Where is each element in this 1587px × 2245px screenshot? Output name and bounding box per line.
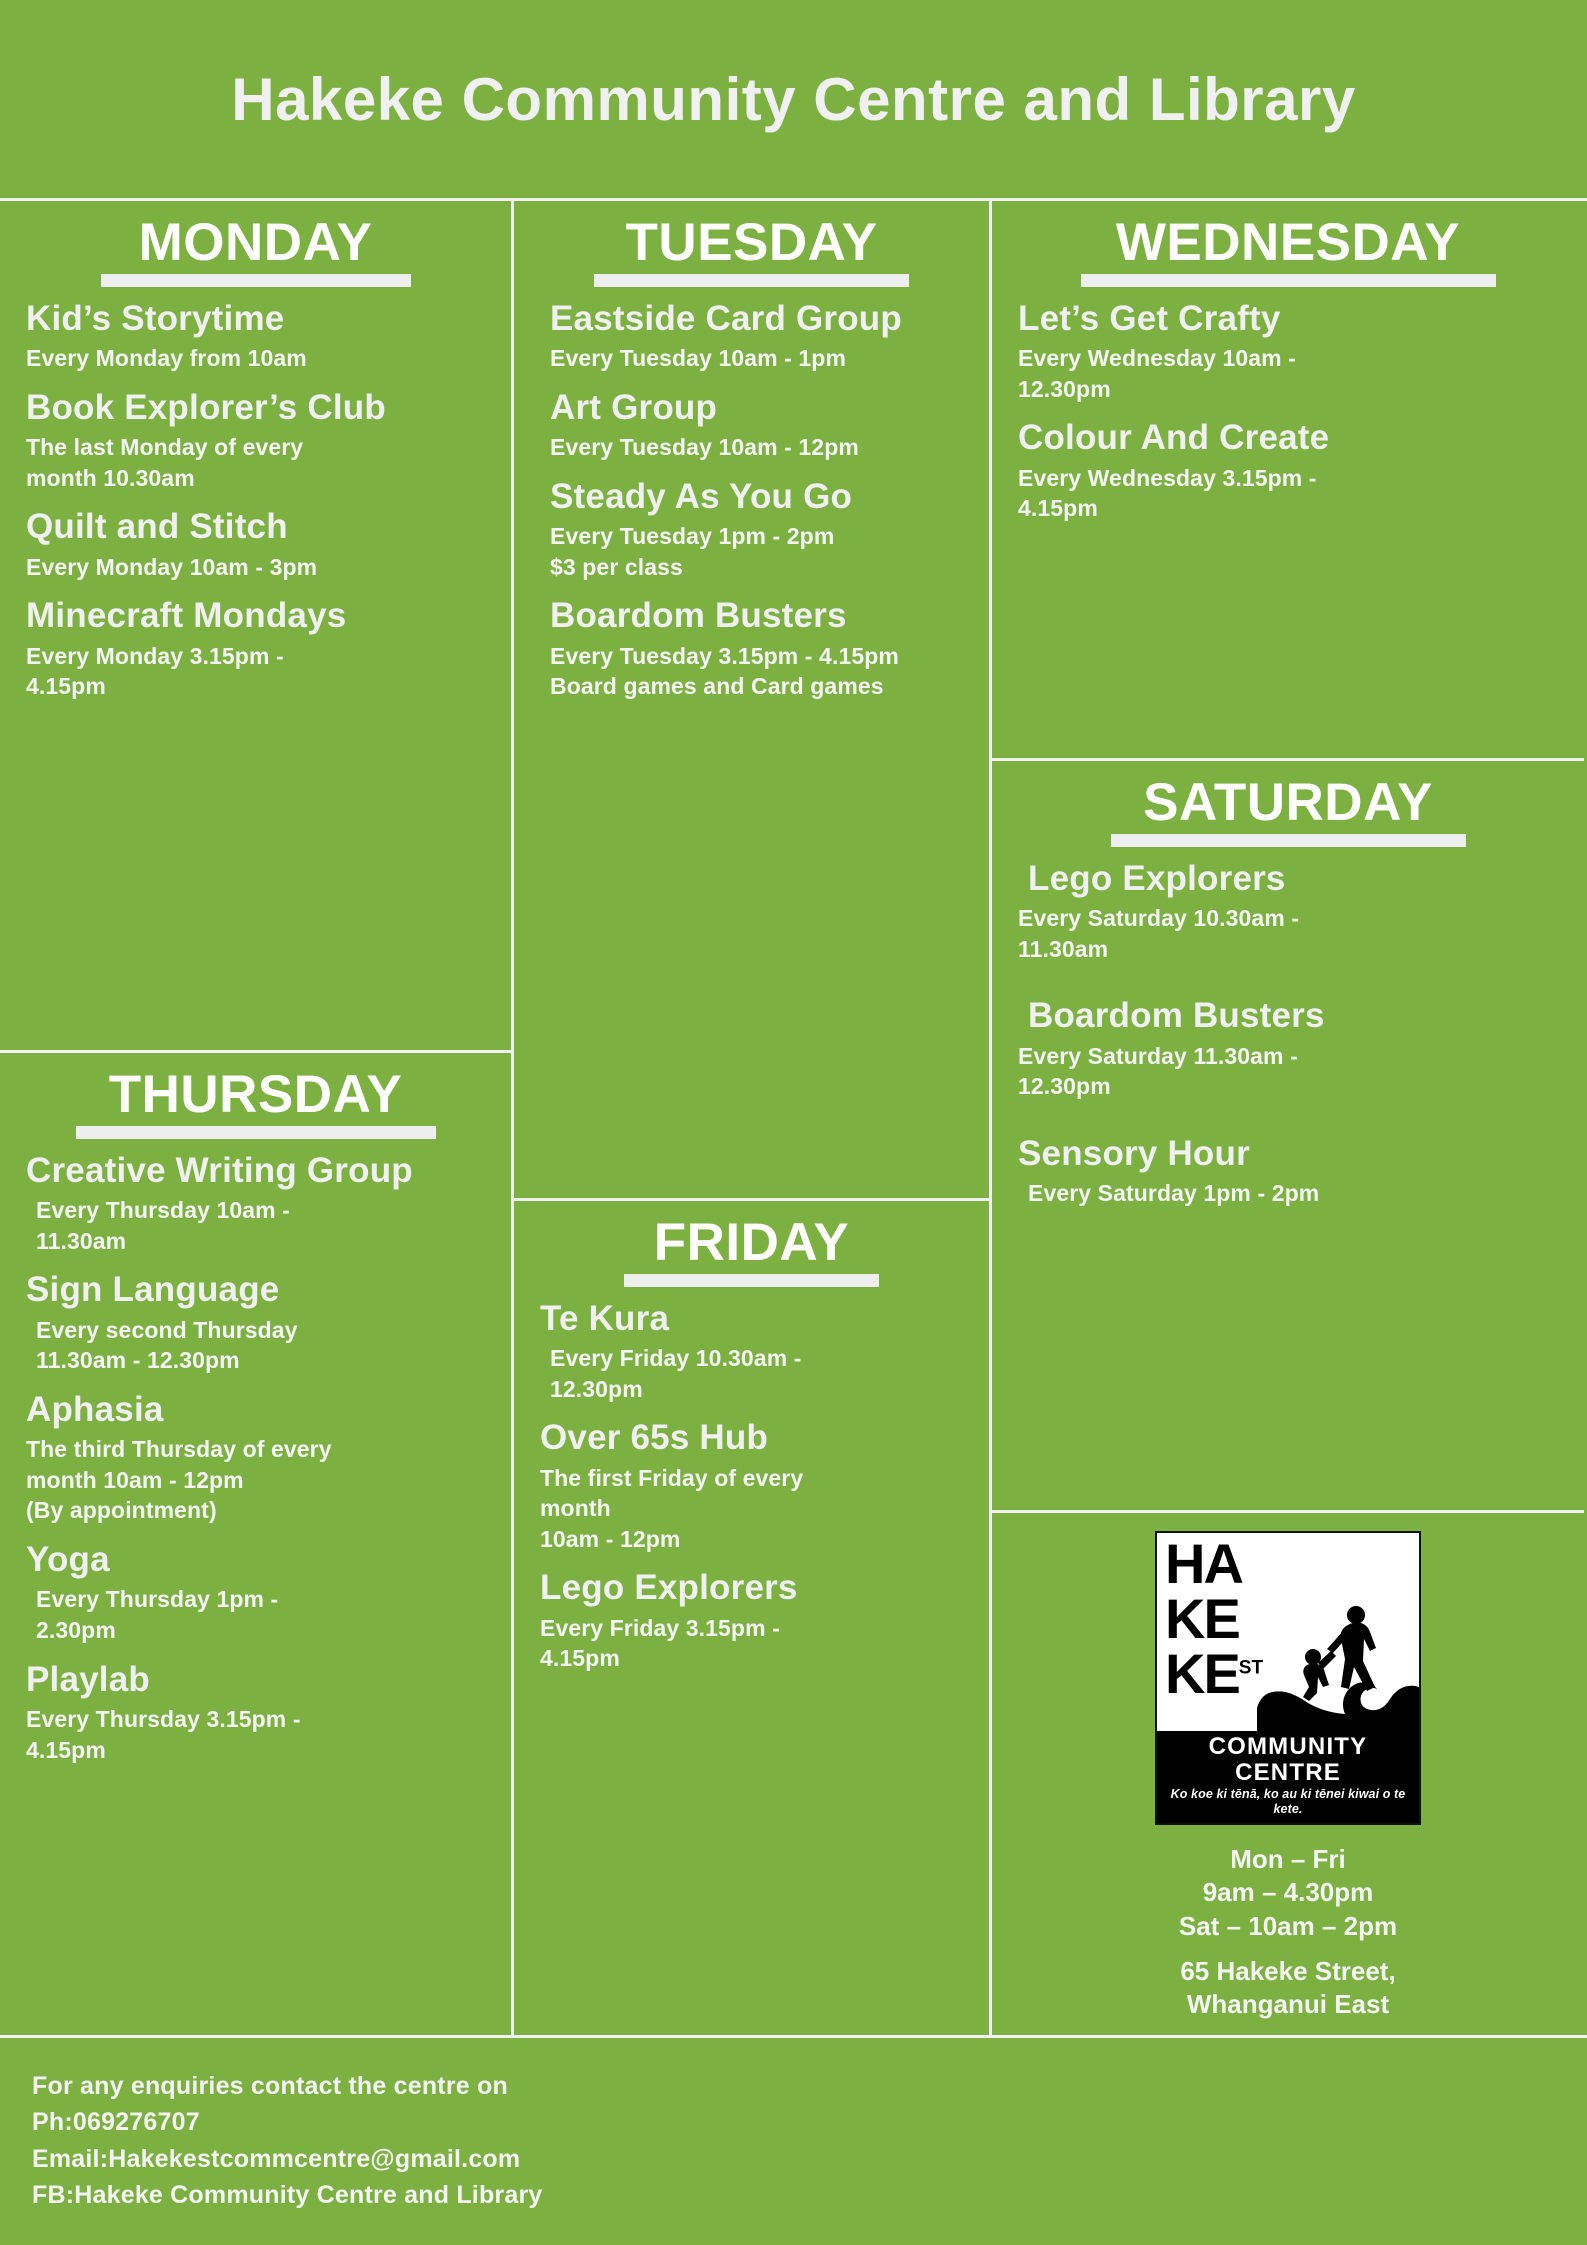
- event-item: Aphasia The third Thursday of every mont…: [26, 1388, 485, 1526]
- day-panel-wednesday: WEDNESDAY Let’s Get Crafty Every Wednesd…: [992, 201, 1584, 761]
- event-name: Boardom Busters: [550, 594, 963, 638]
- day-heading-saturday: SATURDAY: [1018, 775, 1558, 847]
- footer-enquiries: For any enquiries contact the centre on: [32, 2068, 1555, 2104]
- column-left: MONDAY Kid’s Storytime Every Monday from…: [0, 201, 514, 2035]
- event-detail: 10am - 12pm: [540, 1524, 963, 1555]
- event-item: Steady As You Go Every Tuesday 1pm - 2pm…: [540, 475, 963, 583]
- event-name: Art Group: [550, 386, 963, 430]
- poster-header: Hakeke Community Centre and Library: [0, 0, 1587, 198]
- event-item: Boardom Busters Every Saturday 11.30am -…: [1018, 994, 1558, 1102]
- event-detail: Every Tuesday 10am - 12pm: [550, 432, 963, 463]
- day-heading-thursday: THURSDAY: [26, 1067, 485, 1139]
- event-name: Yoga: [26, 1538, 485, 1582]
- column-right: WEDNESDAY Let’s Get Crafty Every Wednesd…: [992, 201, 1584, 2035]
- event-item: Playlab Every Thursday 3.15pm - 4.15pm: [26, 1658, 485, 1766]
- event-name: Kid’s Storytime: [26, 297, 485, 341]
- event-detail: Every Tuesday 3.15pm - 4.15pm: [550, 641, 963, 672]
- address-street: 65 Hakeke Street,: [1180, 1955, 1395, 1988]
- day-heading-friday-label: FRIDAY: [654, 1215, 849, 1271]
- day-panel-tuesday: TUESDAY Eastside Card Group Every Tuesda…: [514, 201, 989, 1201]
- event-name: Sensory Hour: [1018, 1132, 1558, 1176]
- address-suburb: Whanganui East: [1180, 1988, 1395, 2021]
- address-block: 65 Hakeke Street, Whanganui East: [1180, 1955, 1395, 2022]
- event-detail: Every Wednesday 3.15pm -: [1018, 463, 1558, 494]
- heading-underline: [1111, 834, 1466, 847]
- event-item: Eastside Card Group Every Tuesday 10am -…: [540, 297, 963, 374]
- event-detail: 11.30am: [1018, 934, 1558, 965]
- event-detail: month 10.30am: [26, 463, 485, 494]
- day-heading-monday: MONDAY: [26, 215, 485, 287]
- event-item: Let’s Get Crafty Every Wednesday 10am - …: [1018, 297, 1558, 405]
- event-item: Art Group Every Tuesday 10am - 12pm: [540, 386, 963, 463]
- event-detail: Every Tuesday 1pm - 2pm: [550, 521, 963, 552]
- event-detail: Every Tuesday 10am - 1pm: [550, 343, 963, 374]
- logo-motto: Ko koe ki tēnā, ko au ki tēnei kiwai o t…: [1157, 1787, 1419, 1818]
- day-panel-friday: FRIDAY Te Kura Every Friday 10.30am - 12…: [514, 1201, 989, 2035]
- day-heading-friday: FRIDAY: [540, 1215, 963, 1287]
- event-name: Minecraft Mondays: [26, 594, 485, 638]
- event-detail: The first Friday of every: [540, 1463, 963, 1494]
- day-heading-saturday-label: SATURDAY: [1143, 775, 1433, 831]
- day-heading-thursday-label: THURSDAY: [109, 1067, 403, 1123]
- event-detail: (By appointment): [26, 1495, 485, 1526]
- page-title: Hakeke Community Centre and Library: [231, 65, 1355, 134]
- event-name: Colour And Create: [1018, 416, 1558, 460]
- event-name: Over 65s Hub: [540, 1416, 963, 1460]
- event-detail: month 10am - 12pm: [26, 1465, 485, 1496]
- day-heading-tuesday: TUESDAY: [540, 215, 963, 287]
- column-middle: TUESDAY Eastside Card Group Every Tuesda…: [514, 201, 992, 2035]
- event-name: Eastside Card Group: [550, 297, 963, 341]
- event-detail: Board games and Card games: [550, 671, 963, 702]
- heading-underline: [101, 274, 411, 287]
- event-detail: Every Thursday 3.15pm -: [26, 1704, 485, 1735]
- event-item: Over 65s Hub The first Friday of every m…: [540, 1416, 963, 1554]
- event-name: Aphasia: [26, 1388, 485, 1432]
- event-name: Playlab: [26, 1658, 485, 1702]
- footer-phone: Ph:069276707: [32, 2104, 1555, 2140]
- event-detail: 11.30am: [26, 1226, 485, 1257]
- event-detail: 4.15pm: [540, 1643, 963, 1674]
- poster-footer: For any enquiries contact the centre on …: [0, 2038, 1587, 2213]
- day-heading-tuesday-label: TUESDAY: [626, 215, 878, 271]
- event-detail: Every Wednesday 10am -: [1018, 343, 1558, 374]
- event-name: Quilt and Stitch: [26, 505, 485, 549]
- event-detail: Every Saturday 11.30am -: [1018, 1041, 1558, 1072]
- day-panel-monday: MONDAY Kid’s Storytime Every Monday from…: [0, 201, 511, 1053]
- event-item: Yoga Every Thursday 1pm - 2.30pm: [26, 1538, 485, 1646]
- logo-wordmark: HA KE KEST: [1165, 1537, 1263, 1702]
- heading-underline: [1081, 274, 1496, 287]
- schedule-grid: MONDAY Kid’s Storytime Every Monday from…: [0, 198, 1587, 2038]
- heading-underline: [594, 274, 909, 287]
- event-detail: Every Thursday 10am -: [26, 1195, 485, 1226]
- logo-line-1: HA: [1165, 1537, 1263, 1592]
- event-detail: Every Thursday 1pm -: [26, 1584, 485, 1615]
- event-detail: 12.30pm: [540, 1374, 963, 1405]
- event-name: Steady As You Go: [550, 475, 963, 519]
- event-name: Creative Writing Group: [26, 1149, 485, 1193]
- event-name: Book Explorer’s Club: [26, 386, 485, 430]
- event-detail: Every Monday 3.15pm -: [26, 641, 485, 672]
- day-heading-monday-label: MONDAY: [139, 215, 373, 271]
- event-detail: 12.30pm: [1018, 1071, 1558, 1102]
- footer-email: Email:Hakekestcommcentre@gmail.com: [32, 2141, 1555, 2177]
- event-name: Te Kura: [540, 1297, 963, 1341]
- event-item: Book Explorer’s Club The last Monday of …: [26, 386, 485, 494]
- event-item: Sign Language Every second Thursday 11.3…: [26, 1268, 485, 1376]
- event-item: Minecraft Mondays Every Monday 3.15pm - …: [26, 594, 485, 702]
- event-detail: 2.30pm: [26, 1615, 485, 1646]
- event-item: Sensory Hour Every Saturday 1pm - 2pm: [1018, 1132, 1558, 1209]
- day-heading-wednesday: WEDNESDAY: [1018, 215, 1558, 287]
- event-item: Boardom Busters Every Tuesday 3.15pm - 4…: [540, 594, 963, 702]
- event-item: Creative Writing Group Every Thursday 10…: [26, 1149, 485, 1257]
- hours-weekday-label: Mon – Fri: [1179, 1843, 1397, 1876]
- event-detail: Every Monday from 10am: [26, 343, 485, 374]
- event-detail: 12.30pm: [1018, 374, 1558, 405]
- hours-weekday-time: 9am – 4.30pm: [1179, 1876, 1397, 1909]
- event-item: Kid’s Storytime Every Monday from 10am: [26, 297, 485, 374]
- footer-facebook: FB:Hakeke Community Centre and Library: [32, 2177, 1555, 2213]
- event-detail: 11.30am - 12.30pm: [26, 1345, 485, 1376]
- opening-hours: Mon – Fri 9am – 4.30pm Sat – 10am – 2pm: [1179, 1843, 1397, 1943]
- event-detail: 4.15pm: [1018, 493, 1558, 524]
- event-detail: month: [540, 1493, 963, 1524]
- event-detail: Every Saturday 10.30am -: [1018, 903, 1558, 934]
- logo-band-title: COMMUNITY CENTRE: [1157, 1734, 1419, 1787]
- event-name: Lego Explorers: [540, 1566, 963, 1610]
- logo-line-2: KE: [1165, 1592, 1263, 1647]
- event-detail: 4.15pm: [26, 1735, 485, 1766]
- day-panel-saturday: SATURDAY Lego Explorers Every Saturday 1…: [992, 761, 1584, 1513]
- heading-underline: [76, 1126, 436, 1139]
- event-detail: The last Monday of every: [26, 432, 485, 463]
- event-name: Sign Language: [26, 1268, 485, 1312]
- event-item: Lego Explorers Every Saturday 10.30am - …: [1018, 857, 1558, 965]
- event-item: Lego Explorers Every Friday 3.15pm - 4.1…: [540, 1566, 963, 1674]
- event-item: Te Kura Every Friday 10.30am - 12.30pm: [540, 1297, 963, 1405]
- day-panel-thursday: THURSDAY Creative Writing Group Every Th…: [0, 1053, 511, 2035]
- logo-line-3: KE: [1165, 1642, 1239, 1705]
- heading-underline: [624, 1274, 879, 1287]
- event-detail: Every Friday 10.30am -: [540, 1343, 963, 1374]
- event-item: Quilt and Stitch Every Monday 10am - 3pm: [26, 505, 485, 582]
- day-heading-wednesday-label: WEDNESDAY: [1116, 215, 1460, 271]
- centre-info-panel: HA KE KEST: [992, 1513, 1584, 2035]
- event-name: Boardom Busters: [1018, 994, 1558, 1038]
- event-detail: Every Saturday 1pm - 2pm: [1018, 1178, 1558, 1209]
- event-item: Colour And Create Every Wednesday 3.15pm…: [1018, 416, 1558, 524]
- event-detail: Every Friday 3.15pm -: [540, 1613, 963, 1644]
- hours-saturday: Sat – 10am – 2pm: [1179, 1910, 1397, 1943]
- event-detail: $3 per class: [550, 552, 963, 583]
- event-name: Lego Explorers: [1018, 857, 1558, 901]
- event-name: Let’s Get Crafty: [1018, 297, 1558, 341]
- logo-artwork: HA KE KEST: [1157, 1533, 1419, 1731]
- event-detail: The third Thursday of every: [26, 1434, 485, 1465]
- logo-band: COMMUNITY CENTRE Ko koe ki tēnā, ko au k…: [1157, 1731, 1419, 1823]
- event-detail: Every Monday 10am - 3pm: [26, 552, 485, 583]
- helping-hand-illustration: [1257, 1601, 1419, 1731]
- hakeke-logo: HA KE KEST: [1155, 1531, 1421, 1825]
- event-detail: 4.15pm: [26, 671, 485, 702]
- event-detail: Every second Thursday: [26, 1315, 485, 1346]
